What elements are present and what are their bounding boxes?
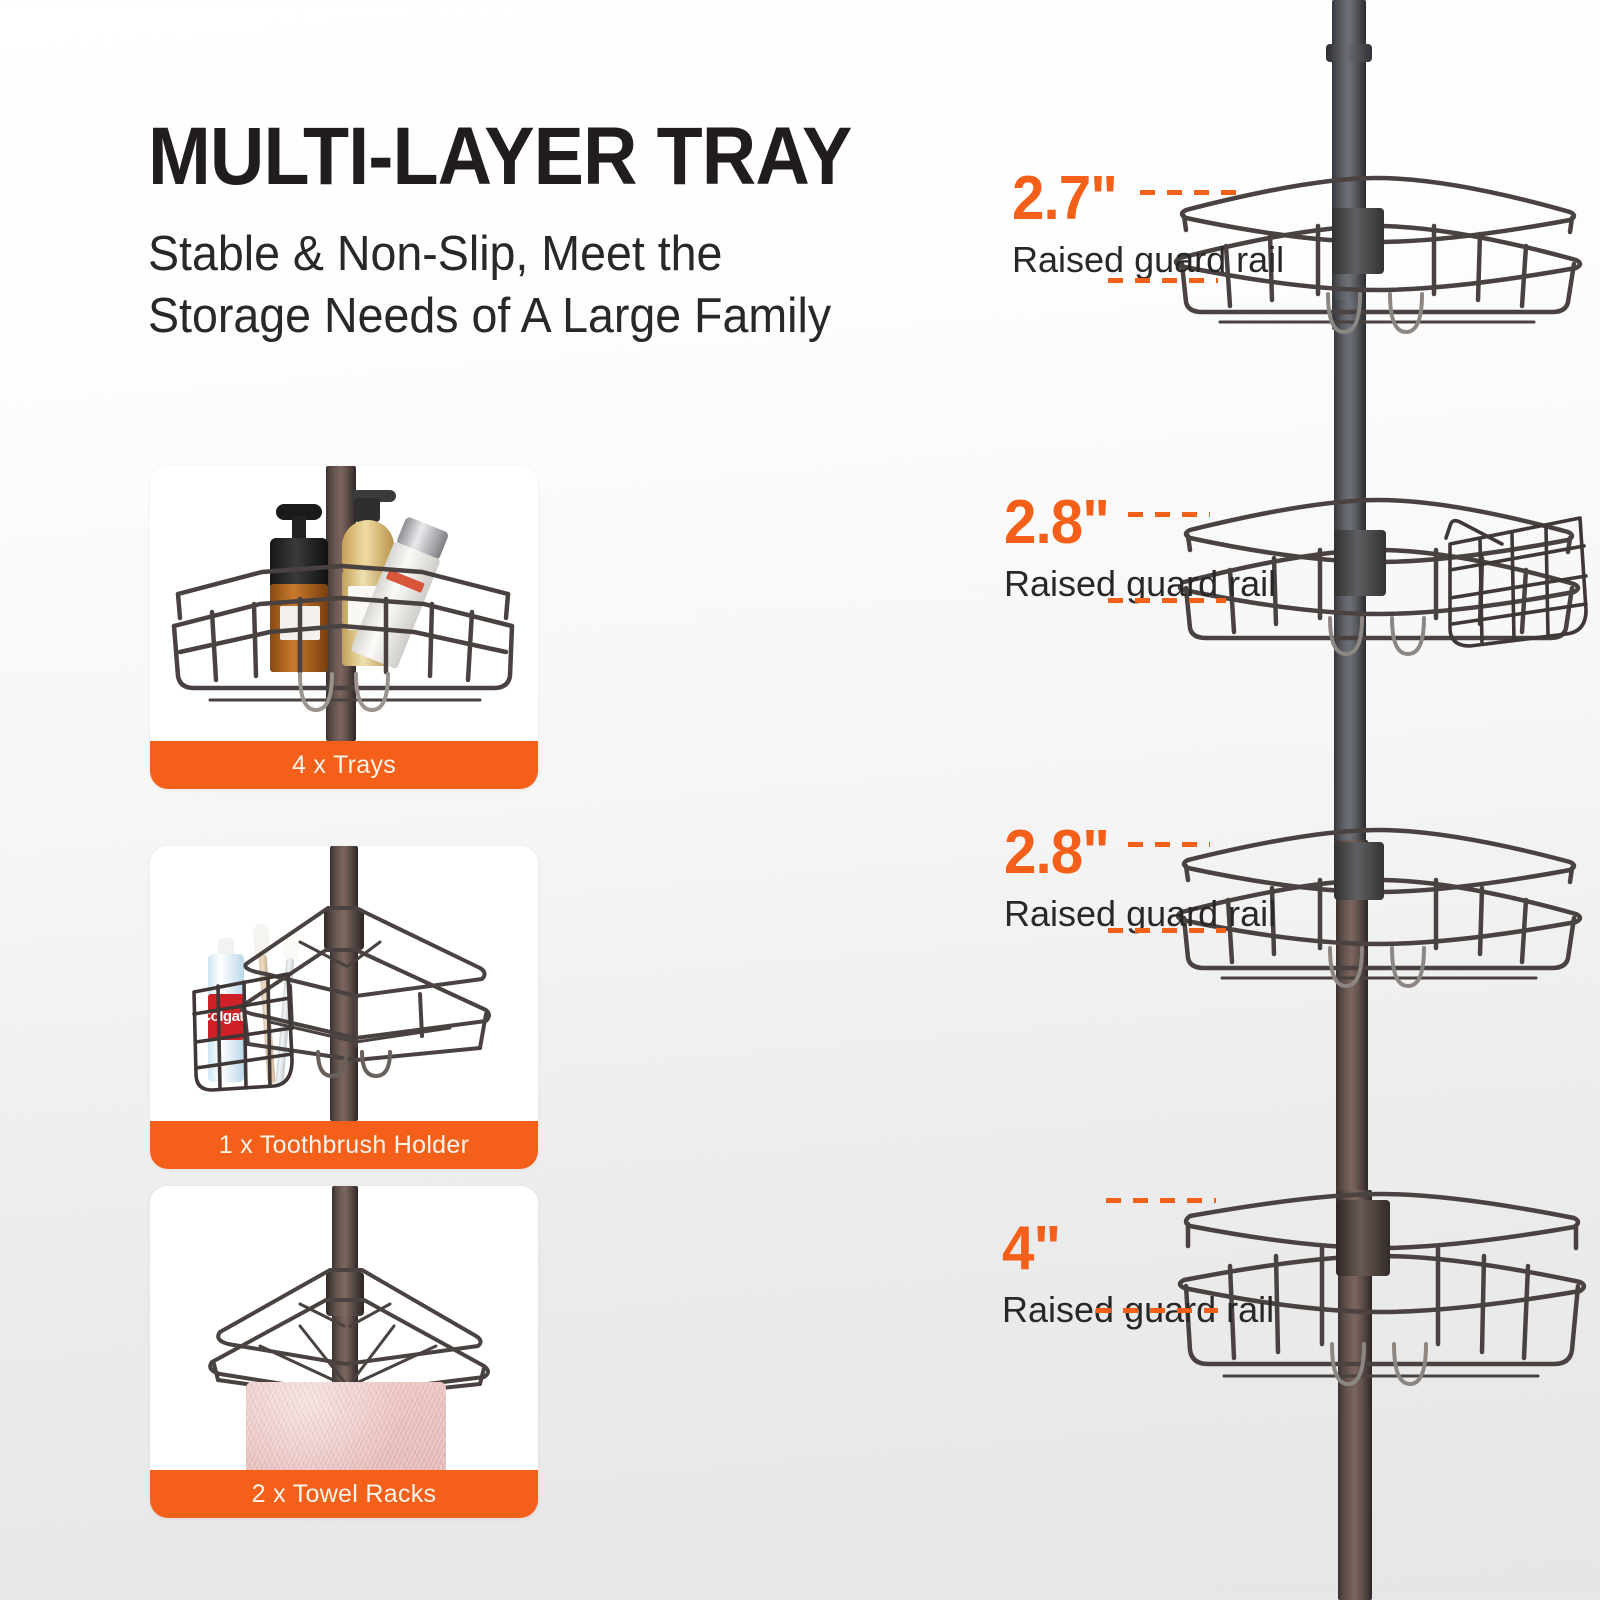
feature-card-toothbrush-photo: Colgate xyxy=(150,846,538,1121)
subtitle-line-1: Stable & Non-Slip, Meet the xyxy=(148,227,722,281)
callout-tier-1-value: 2.7" xyxy=(1012,168,1268,230)
feature-card-toothbrush: Colgate xyxy=(150,846,538,1169)
page-title: MULTI-LAYER TRAY xyxy=(148,118,994,197)
leader-line-tier-2-bottom xyxy=(1108,598,1226,603)
feature-card-trays-label: 4 x Trays xyxy=(150,741,538,789)
leader-line-tier-4-top xyxy=(1106,1198,1216,1203)
feature-card-trays-photo xyxy=(150,466,538,741)
callout-tier-4-value: 4" xyxy=(1002,1218,1258,1280)
feature-card-toothbrush-label: 1 x Toothbrush Holder xyxy=(150,1121,538,1169)
feature-card-trays: 4 x Trays xyxy=(150,466,538,789)
callout-tier-2: 2.8" Raised guard rail xyxy=(1004,492,1276,602)
leader-line-tier-2-top xyxy=(1128,512,1210,517)
callout-tier-3-label: Raised guard rail xyxy=(1004,896,1276,932)
callout-tier-1-label: Raised guard rail xyxy=(1012,242,1284,278)
feature-card-towel-photo xyxy=(150,1186,538,1470)
leader-line-tier-4-bottom xyxy=(1096,1308,1218,1313)
leader-line-tier-3-top xyxy=(1128,842,1210,847)
page-subtitle: Stable & Non-Slip, Meet the Storage Need… xyxy=(148,223,1022,347)
callout-tier-3-value: 2.8" xyxy=(1004,822,1260,884)
leader-line-tier-3-bottom xyxy=(1108,928,1226,933)
subtitle-line-2: Storage Needs of A Large Family xyxy=(148,289,831,343)
headline-block: MULTI-LAYER TRAY Stable & Non-Slip, Meet… xyxy=(148,118,1068,347)
pole-upper-mid-segment xyxy=(1334,300,1366,860)
callout-tier-3: 2.8" Raised guard rail xyxy=(1004,822,1276,932)
callout-tier-1: 2.7" Raised guard rail xyxy=(1012,168,1284,278)
leader-line-tier-1-top xyxy=(1140,190,1240,195)
tray-wire-drawing xyxy=(150,466,538,741)
pole-bottom-segment xyxy=(1338,1190,1372,1600)
feature-card-towel: 2 x Towel Racks xyxy=(150,1186,538,1518)
leader-line-tier-1-bottom xyxy=(1108,278,1218,283)
callout-tier-2-label: Raised guard rail xyxy=(1004,566,1276,602)
tray-with-side-basket-drawing xyxy=(150,846,538,1121)
pole-lower-mid-segment xyxy=(1336,840,1368,1240)
hanging-towel xyxy=(246,1382,446,1470)
callout-tier-2-value: 2.8" xyxy=(1004,492,1260,554)
feature-card-towel-label: 2 x Towel Racks xyxy=(150,1470,538,1518)
pole-joint-ring xyxy=(1326,44,1372,62)
